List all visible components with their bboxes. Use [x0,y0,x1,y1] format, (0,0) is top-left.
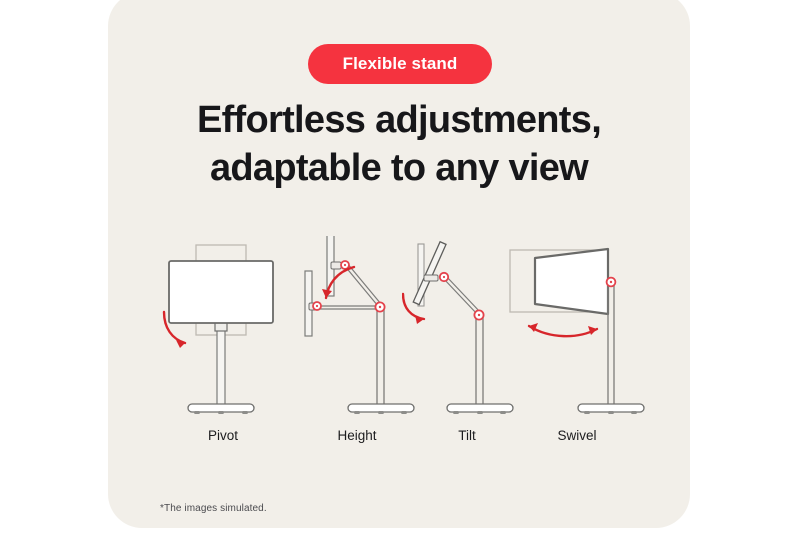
badge-label: Flexible stand [343,54,458,74]
page-title: Effortless adjustments, adaptable to any… [108,96,690,192]
label-pivot: Pivot [158,428,288,443]
headline-line-1: Effortless adjustments, [197,99,601,141]
figure-labels: Pivot Height Tilt Swivel [150,428,650,450]
swivel-arrow-icon [529,323,597,336]
badge-flexible-stand: Flexible stand [308,44,492,84]
label-swivel: Swivel [502,428,652,443]
figure-pivot [158,236,288,446]
headline-line-2: adaptable to any view [108,144,690,192]
promo-stage: Flexible stand Effortless adjustments, a… [0,0,800,535]
figure-row [150,236,650,446]
figure-swivel [502,236,652,446]
footnote: *The images simulated. [160,503,267,514]
